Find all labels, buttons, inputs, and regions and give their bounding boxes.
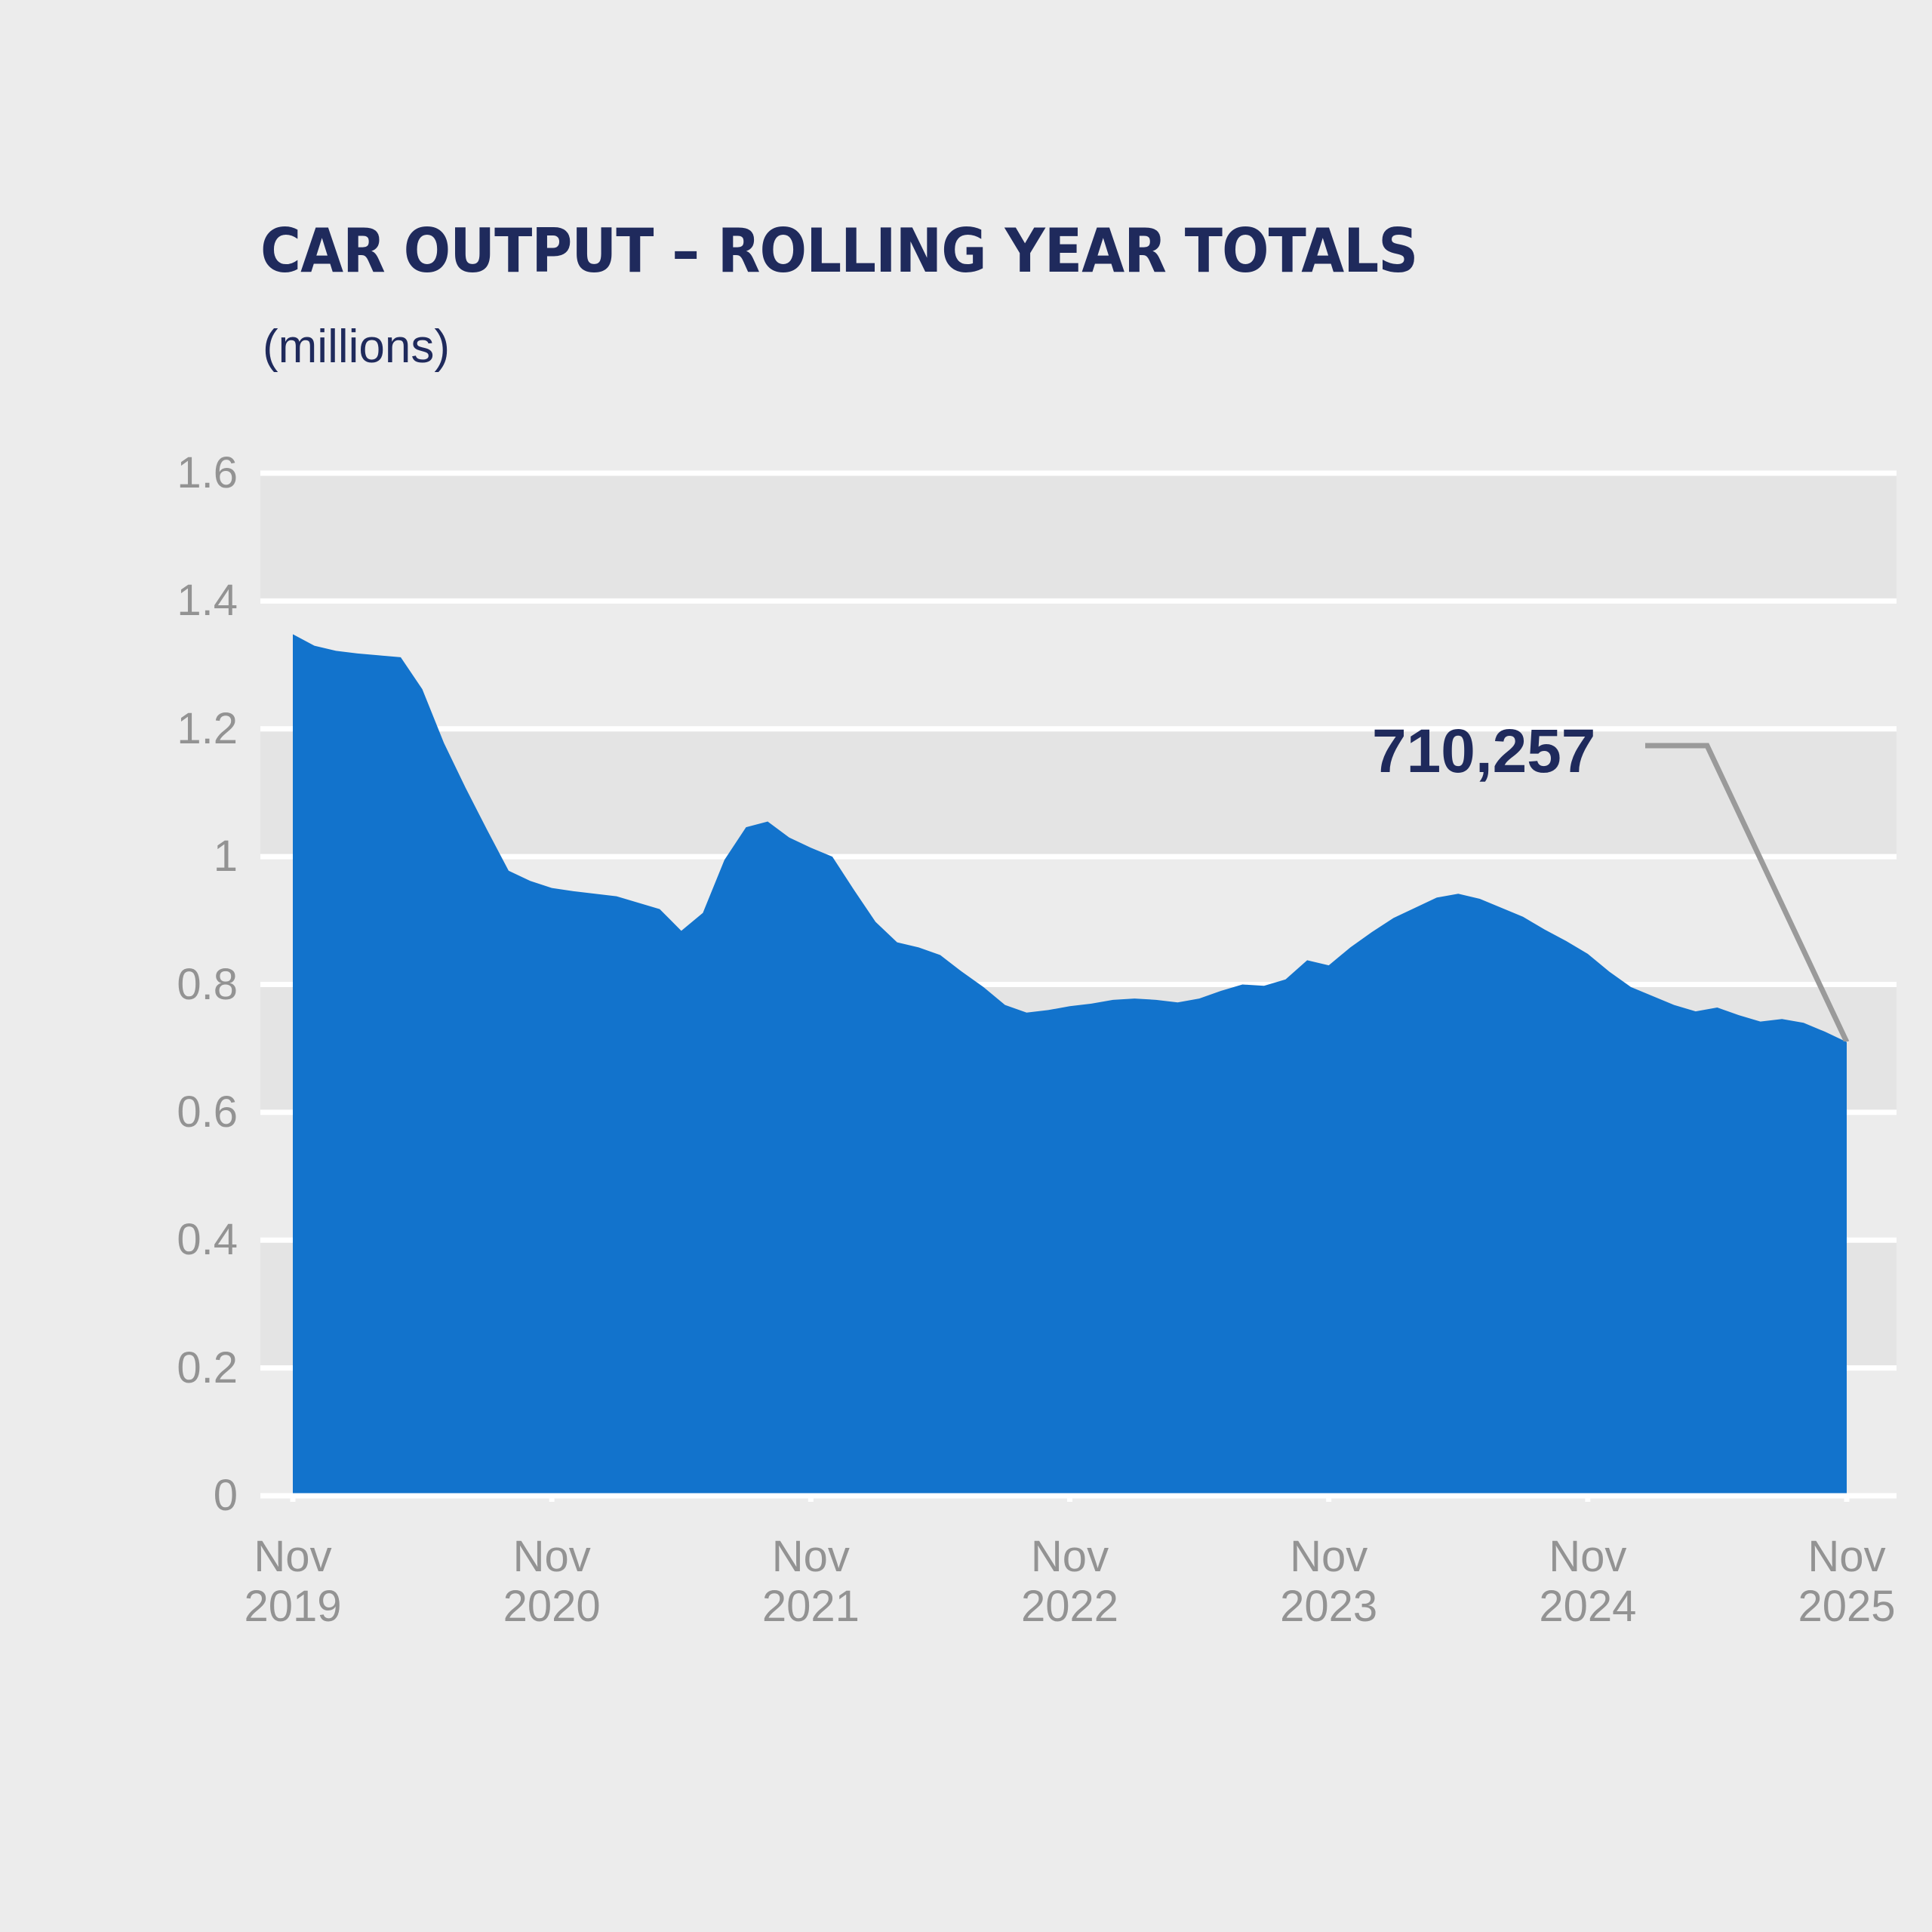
y-tick-label: 0.2 bbox=[177, 1346, 238, 1390]
x-tick-label-year: 2020 bbox=[503, 1582, 601, 1632]
x-tick-label: Nov2020 bbox=[503, 1532, 601, 1632]
y-tick-label: 1.2 bbox=[177, 707, 238, 751]
y-tick-label: 1.4 bbox=[177, 579, 238, 623]
y-tick-label: 0.8 bbox=[177, 963, 238, 1007]
x-tick-label-year: 2025 bbox=[1798, 1582, 1895, 1632]
y-tick-label: 0.4 bbox=[177, 1218, 238, 1262]
x-tick-label-year: 2021 bbox=[762, 1582, 860, 1632]
y-tick-label: 1 bbox=[214, 835, 238, 878]
x-tick-label-year: 2022 bbox=[1021, 1582, 1118, 1632]
x-tick-label-month: Nov bbox=[513, 1532, 591, 1581]
y-tick-label: 0 bbox=[214, 1474, 238, 1518]
chart-subtitle: (millions) bbox=[263, 321, 450, 374]
x-tick-label: Nov2019 bbox=[244, 1532, 341, 1632]
x-tick-label: Nov2021 bbox=[762, 1532, 860, 1632]
chart-root: CAR OUTPUT – ROLLING YEAR TOTALS (millio… bbox=[0, 0, 1932, 1932]
x-tick-label-year: 2023 bbox=[1280, 1582, 1377, 1632]
plot-area bbox=[260, 468, 1897, 1502]
x-tick-label: Nov2025 bbox=[1798, 1532, 1895, 1632]
y-tick-label: 1.6 bbox=[177, 451, 238, 495]
x-tick-label-month: Nov bbox=[254, 1532, 331, 1581]
x-tick-label-year: 2019 bbox=[244, 1582, 341, 1632]
x-tick-label-year: 2024 bbox=[1539, 1582, 1636, 1632]
x-tick-label-month: Nov bbox=[1549, 1532, 1626, 1581]
x-tick-label: Nov2023 bbox=[1280, 1532, 1377, 1632]
x-tick-label: Nov2022 bbox=[1021, 1532, 1118, 1632]
x-tick-label-month: Nov bbox=[1290, 1532, 1367, 1581]
y-tick-label: 0.6 bbox=[177, 1091, 238, 1134]
x-tick-label-month: Nov bbox=[1807, 1532, 1885, 1581]
x-tick-label: Nov2024 bbox=[1539, 1532, 1636, 1632]
page-title: CAR OUTPUT – ROLLING YEAR TOTALS bbox=[260, 219, 1417, 284]
area-chart-svg bbox=[260, 468, 1897, 1502]
x-tick-label-month: Nov bbox=[1031, 1532, 1109, 1581]
x-tick-label-month: Nov bbox=[772, 1532, 850, 1581]
callout-value-label: 710,257 bbox=[1372, 721, 1595, 783]
